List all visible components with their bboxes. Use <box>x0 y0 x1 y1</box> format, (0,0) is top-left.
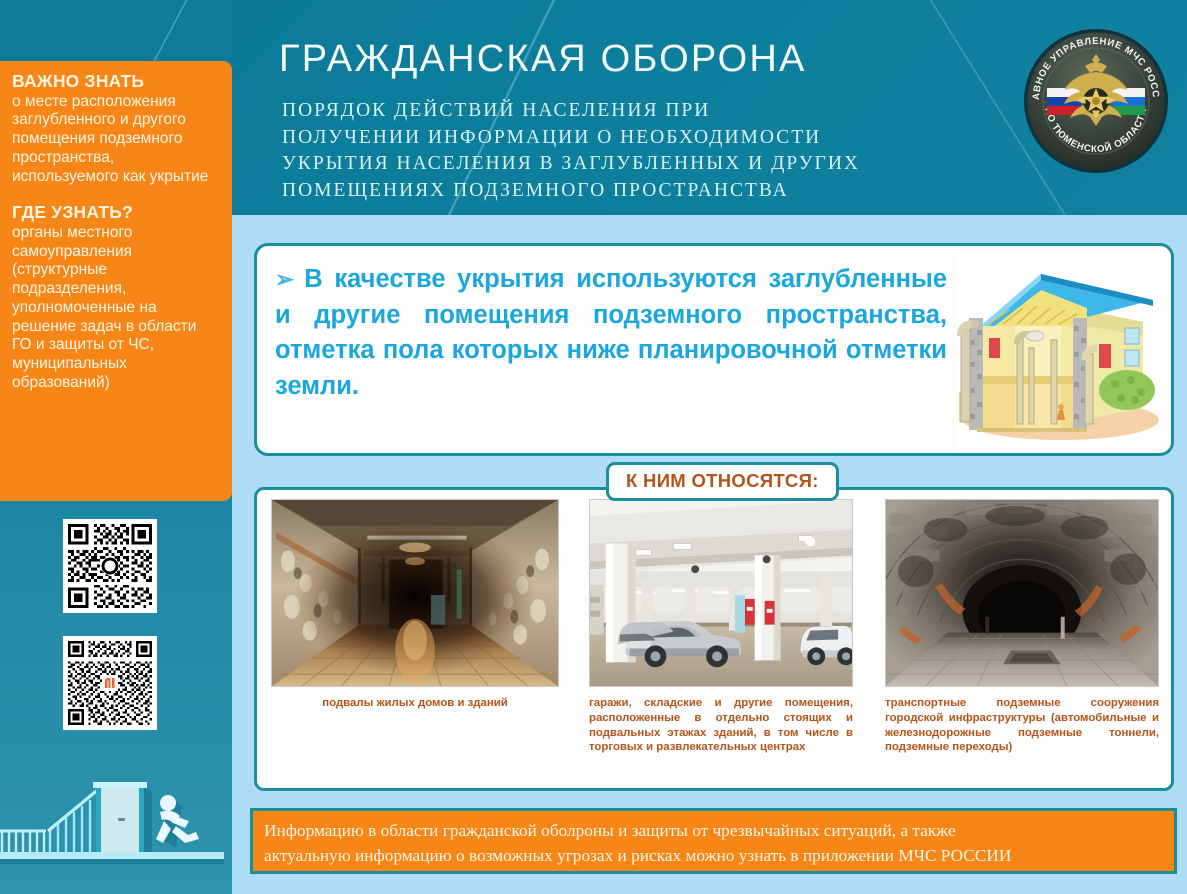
where-heading: ГДЕ УЗНАТЬ? <box>12 203 220 223</box>
left-sidebar: ВАЖНО ЗНАТЬ о месте расположения заглубл… <box>0 0 232 894</box>
where-body: органы местного самоуправления (структур… <box>12 224 220 393</box>
qr-code-secondary[interactable] <box>63 636 157 730</box>
house-cutaway-illustration <box>955 252 1167 450</box>
photos-card: подвалы жилых домов и зданий <box>254 487 1174 791</box>
subtitle-line-4: ПОМЕЩЕНИЯХ ПОДЗЕМНОГО ПРОСТРАНСТВА <box>282 178 1042 205</box>
subtitle-line-3: УКРЫТИЯ НАСЕЛЕНИЯ В ЗАГЛУБЛЕННЫХ И ДРУГИ… <box>282 151 1042 178</box>
photo-transport-tunnel <box>885 499 1159 687</box>
photo-caption-2: гаражи, складские и другие помещения, ра… <box>589 696 853 755</box>
header-banner: ГРАЖДАНСКАЯ ОБОРОНА ПОРЯДОК ДЕЙСТВИЙ НАС… <box>232 0 1187 215</box>
qr-code-group <box>63 519 157 730</box>
statement-card: ➢В качестве укрытия используются заглубл… <box>254 243 1174 456</box>
photo-underground-parking <box>589 499 853 687</box>
footer-info-bar: Информацию в области гражданской оболрон… <box>250 808 1177 874</box>
subtitle-line-2: ПОЛУЧЕНИИ ИНФОРМАЦИИ О НЕОБХОДИМОСТИ <box>282 125 1042 152</box>
footer-line-1: Информацию в области гражданской оболрон… <box>264 818 1164 843</box>
photo-caption-3: транспортные подземные сооружения городс… <box>885 696 1159 755</box>
bullet-arrow-icon: ➢ <box>275 266 294 292</box>
qr-code-primary[interactable] <box>63 519 157 613</box>
photo-item-tunnel: транспортные подземные сооружения городс… <box>885 499 1159 755</box>
sidebar-spacer <box>12 186 220 203</box>
section-tab-label: К НИМ ОТНОСЯТСЯ: <box>606 462 839 501</box>
photo-basement-corridor <box>271 499 559 687</box>
sidebar-info-panel: ВАЖНО ЗНАТЬ о месте расположения заглубл… <box>0 61 232 501</box>
shelter-entrance-icon <box>0 774 224 878</box>
important-heading: ВАЖНО ЗНАТЬ <box>12 72 220 92</box>
subtitle-line-1: ПОРЯДОК ДЕЙСТВИЙ НАСЕЛЕНИЯ ПРИ <box>282 98 1042 125</box>
statement-text: ➢В качестве укрытия используются заглубл… <box>275 262 947 405</box>
statement-body: В качестве укрытия используются заглубле… <box>275 265 947 400</box>
page-title: ГРАЖДАНСКАЯ ОБОРОНА <box>279 38 807 81</box>
photo-item-basement: подвалы жилых домов и зданий <box>271 499 559 711</box>
page-subtitle: ПОРЯДОК ДЕЙСТВИЙ НАСЕЛЕНИЯ ПРИ ПОЛУЧЕНИИ… <box>282 98 1042 204</box>
important-body: о месте расположения заглубленного и дру… <box>12 93 220 187</box>
emblem-mchs-tyumen: ГЛАВНОЕ УПРАВЛЕНИЕ МЧС РОССИИ ПО ТЮМЕНСК… <box>1021 26 1171 176</box>
photo-item-parking: гаражи, складские и другие помещения, ра… <box>589 499 853 755</box>
photos-row: подвалы жилых домов и зданий <box>257 490 1171 788</box>
footer-line-2: актуальную информацию о возможных угроза… <box>264 843 1164 868</box>
poster-root: ВАЖНО ЗНАТЬ о месте расположения заглубл… <box>0 0 1187 894</box>
photo-caption-1: подвалы жилых домов и зданий <box>271 696 559 711</box>
